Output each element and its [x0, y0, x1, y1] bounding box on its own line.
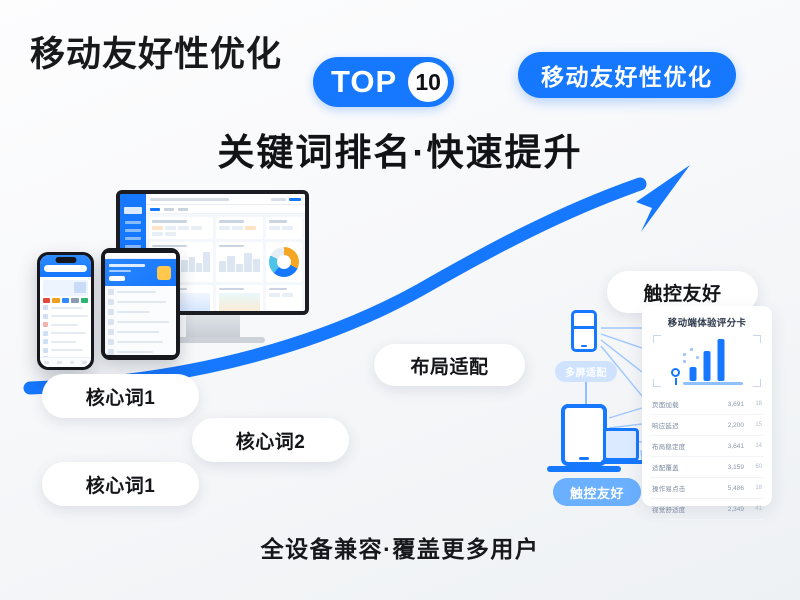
phone-screen [40, 255, 91, 367]
scorecard-row-name: 页面加载 [652, 399, 718, 409]
scorecard-bars [690, 339, 725, 381]
scorecard-row-value: 3,691 [718, 401, 744, 408]
mini-phone-top-icon [571, 310, 597, 352]
top-rank-badge: TOP 10 [313, 57, 454, 107]
tablet-hero-banner [105, 259, 176, 286]
scorecard-row-value: 2,349 [718, 506, 744, 513]
dashboard-topbar [146, 194, 305, 205]
scorecard-row-value: 3,159 [718, 464, 744, 471]
mini-laptop-icon [603, 428, 639, 461]
scorecard-bar [690, 367, 697, 381]
top-badge-word: TOP [331, 64, 397, 100]
page-title: 移动友好性优化 [30, 26, 282, 77]
scorecard-bar [704, 351, 711, 381]
phone-notch [55, 257, 76, 263]
scorecard-row-delta: 15 [744, 422, 762, 428]
mini-phone-large-icon [561, 404, 607, 466]
scorecard-row-value: 2,200 [718, 422, 744, 429]
keyword-pill-1: 核心词1 [42, 374, 199, 418]
keyword-pill-3: 核心词1 [42, 462, 199, 506]
scorecard-row-delta: 41 [744, 506, 762, 512]
scorecard-row-name: 操作易点击 [652, 483, 718, 493]
layout-adaptation-pill: 布局适配 [374, 344, 525, 386]
keyword-pill-2: 核心词2 [192, 418, 349, 462]
scorecard-bar [718, 339, 725, 381]
scorecard-row-delta: 18 [744, 485, 762, 491]
footer-caption: 全设备兼容·覆盖更多用户 [0, 530, 800, 564]
donut-chart [266, 242, 302, 282]
scorecard-row-value: 5,486 [718, 485, 744, 492]
poster-canvas: 移动友好性优化 TOP 10 移动友好性优化 关键词排名·快速提升 [0, 0, 800, 600]
scorecard-row: 适配覆盖3,15960 [650, 457, 764, 478]
device-mockup-cluster [28, 190, 328, 370]
top-badge-number: 10 [408, 62, 448, 102]
scorecard-illustration: 多屏适配 触控友好 移动端体验评分卡 页面加载3,69118响应延迟2,2001… [545, 300, 780, 512]
scorecard-row-name: 视觉舒适度 [652, 504, 718, 514]
tablet-screen [105, 253, 176, 355]
scorecard-row: 操作易点击5,48618 [650, 478, 764, 499]
monitor-stand [186, 315, 240, 337]
phone-search-bar [44, 265, 87, 272]
phone-mockup [37, 252, 94, 370]
tablet-list [105, 286, 176, 355]
connector-stem [585, 382, 587, 404]
tablet-mockup [101, 248, 180, 360]
scorecard-row-delta: 18 [744, 401, 762, 407]
phone-promo-card [43, 280, 88, 296]
phone-tabbar [40, 357, 91, 367]
scorecard-row-delta: 60 [744, 464, 762, 470]
touch-friendly-badge: 触控友好 [553, 478, 641, 506]
scorecard-row: 视觉舒适度2,34941 [650, 499, 764, 520]
mini-device-stand [547, 466, 621, 472]
multiscreen-badge: 多屏适配 [555, 361, 617, 382]
dashboard-tabs [146, 205, 305, 214]
score-card-panel: 移动端体验评分卡 页面加载3,69118响应延迟2,20015布局稳定度3,64… [642, 306, 772, 506]
phone-quick-icons [40, 298, 91, 305]
scorecard-rows: 页面加载3,69118响应延迟2,20015布局稳定度3,64114适配覆盖3,… [650, 394, 764, 520]
scorecard-row: 响应延迟2,20015 [650, 415, 764, 436]
scorecard-row-name: 响应延迟 [652, 420, 718, 430]
scorecard-row-name: 适配覆盖 [652, 462, 718, 472]
scorecard-title: 移动端体验评分卡 [650, 315, 764, 329]
scorecard-row-name: 布局稳定度 [652, 441, 718, 451]
scorecard-row: 页面加载3,69118 [650, 394, 764, 415]
scorecard-magnifier-icon [671, 368, 680, 377]
scorecard-row-value: 3,641 [718, 443, 744, 450]
scorecard-chart [653, 335, 761, 387]
scorecard-row-delta: 14 [744, 443, 762, 449]
header-blue-pill: 移动友好性优化 [518, 52, 736, 98]
scorecard-row: 布局稳定度3,64114 [650, 436, 764, 457]
